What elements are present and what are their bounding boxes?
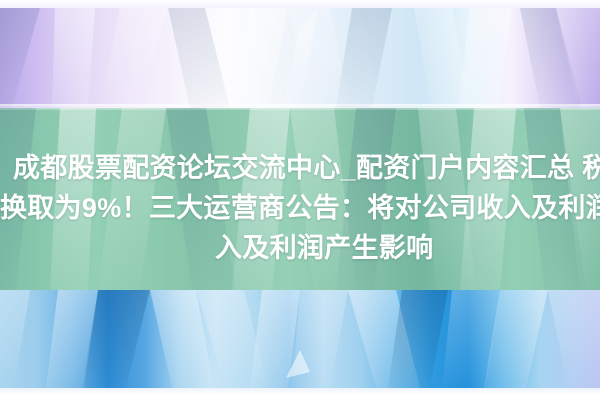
headline-line-1: 成都股票配资论坛交流中心_配资门户内容汇总 税: [13, 148, 600, 188]
band-seam-divider: [0, 104, 600, 110]
top-white-strip: [0, 0, 600, 8]
banner-canvas: 成都股票配资论坛交流中心_配资门户内容汇总 税 换取为9%！三大运营商公告：将对…: [0, 0, 600, 400]
headline-line-3: 入及利润产生影响: [215, 228, 600, 268]
headline-line-2: 换取为9%！三大运营商公告：将对公司收入及利润产: [0, 188, 600, 228]
pastel-gradient-band: [0, 8, 600, 108]
blue-gradient-band: [0, 290, 600, 388]
banner-headline: 成都股票配资论坛交流中心_配资门户内容汇总 税 换取为9%！三大运营商公告：将对…: [13, 148, 600, 268]
bottom-white-strip: [0, 388, 600, 400]
